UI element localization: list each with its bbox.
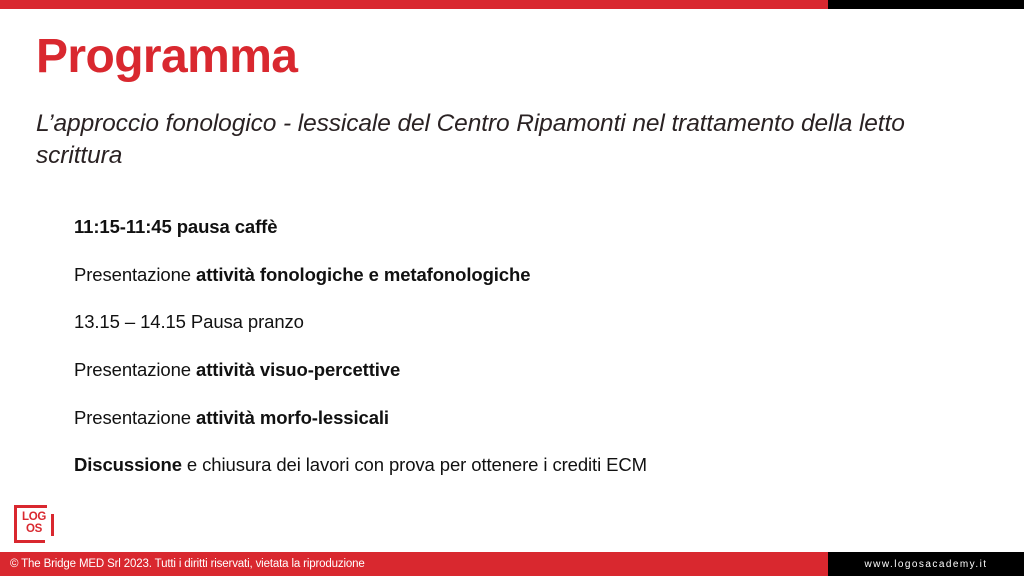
logo-wordmark: LOG OS bbox=[14, 505, 54, 543]
program-item-bold-text: 11:15-11:45 pausa caffè bbox=[74, 216, 277, 237]
top-accent-bar bbox=[0, 0, 1024, 9]
program-list-item: Presentazione attività visuo-percettive bbox=[74, 358, 954, 381]
footer-bar: © The Bridge MED Srl 2023. Tutti i dirit… bbox=[0, 552, 1024, 576]
footer-copyright-text: © The Bridge MED Srl 2023. Tutti i dirit… bbox=[10, 558, 365, 570]
top-accent-bar-red-segment bbox=[0, 0, 828, 9]
footer-website-text: www.logosacademy.it bbox=[865, 559, 988, 570]
top-accent-bar-black-segment bbox=[828, 0, 1024, 9]
program-item-bold-text: attività morfo-lessicali bbox=[196, 407, 389, 428]
program-item-lead-text: Presentazione bbox=[74, 359, 196, 380]
program-item-lead-text: Presentazione bbox=[74, 407, 196, 428]
slide-subtitle: L’approccio fonologico - lessicale del C… bbox=[36, 108, 986, 173]
program-list-item: Presentazione attività morfo-lessicali bbox=[74, 406, 954, 429]
program-item-bold-text: Discussione bbox=[74, 454, 182, 475]
program-list-item: Discussione e chiusura dei lavori con pr… bbox=[74, 453, 954, 476]
footer-copyright-band: © The Bridge MED Srl 2023. Tutti i dirit… bbox=[0, 552, 828, 576]
footer-website-band: www.logosacademy.it bbox=[828, 552, 1024, 576]
logos-logo: LOG OS bbox=[14, 505, 54, 543]
program-list-item: Presentazione attività fonologiche e met… bbox=[74, 263, 954, 286]
program-item-trail-text: e chiusura dei lavori con prova per otte… bbox=[182, 454, 647, 475]
program-list-item: 11:15-11:45 pausa caffè bbox=[74, 215, 954, 238]
program-item-bold-text: attività visuo-percettive bbox=[196, 359, 400, 380]
slide-title: Programma bbox=[36, 32, 297, 83]
program-item-lead-text: Presentazione bbox=[74, 264, 196, 285]
program-item-bold-text: attività fonologiche e metafonologiche bbox=[196, 264, 530, 285]
logo-text-line-2: OS bbox=[26, 524, 42, 536]
program-list-item: 13.15 – 14.15 Pausa pranzo bbox=[74, 310, 954, 333]
program-list: 11:15-11:45 pausa caffè Presentazione at… bbox=[74, 215, 954, 476]
program-item-lead-text: 13.15 – 14.15 Pausa pranzo bbox=[74, 311, 304, 332]
